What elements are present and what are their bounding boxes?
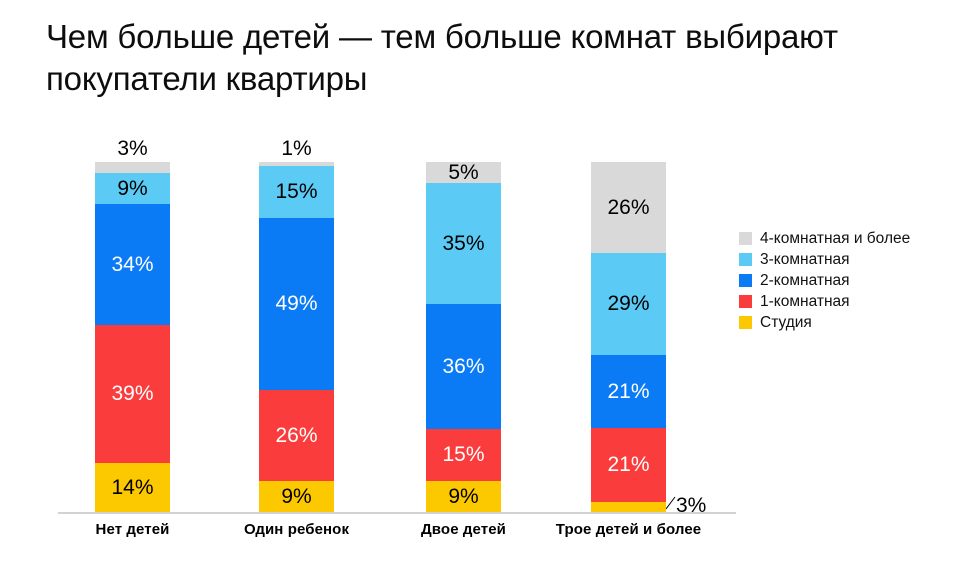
- segment-value-label: 21%: [607, 454, 649, 475]
- bar-segment[interactable]: 3%: [95, 162, 170, 173]
- segment-value-label: 26%: [275, 425, 317, 446]
- bar-segment[interactable]: 21%: [591, 355, 666, 429]
- legend-item[interactable]: Студия: [739, 312, 910, 333]
- segment-value-label: 15%: [442, 444, 484, 465]
- legend-swatch-icon: [739, 316, 752, 329]
- segment-value-label: 9%: [117, 178, 147, 199]
- segment-value-label: 15%: [275, 181, 317, 202]
- bar-segment[interactable]: 9%: [95, 173, 170, 205]
- legend-item[interactable]: 3-комнатная: [739, 249, 910, 270]
- legend-swatch-icon: [739, 274, 752, 287]
- legend-label: 1-комнатная: [760, 294, 850, 310]
- segment-value-label: 21%: [607, 381, 649, 402]
- segment-value-label: 9%: [281, 486, 311, 507]
- bar-segment[interactable]: 15%: [426, 429, 501, 481]
- segment-value-label: 29%: [607, 293, 649, 314]
- segment-value-label: 14%: [111, 477, 153, 498]
- bar-segment[interactable]: 29%: [591, 253, 666, 355]
- x-axis-line: [58, 512, 736, 514]
- legend-item[interactable]: 4-комнатная и более: [739, 228, 910, 249]
- bar-segment[interactable]: 3%: [591, 502, 666, 513]
- segment-value-label: 1%: [281, 138, 311, 159]
- bar-segment[interactable]: 39%: [95, 325, 170, 463]
- bar-segment[interactable]: 9%: [259, 481, 334, 513]
- bar-segment[interactable]: 34%: [95, 204, 170, 324]
- bar-column[interactable]: 3%9%34%39%14%: [95, 162, 170, 512]
- legend-item[interactable]: 1-комнатная: [739, 291, 910, 312]
- chart-legend: 4-комнатная и более3-комнатная2-комнатна…: [739, 228, 910, 333]
- bar-segment[interactable]: 14%: [95, 463, 170, 513]
- segment-value-label: 9%: [448, 486, 478, 507]
- legend-swatch-icon: [739, 253, 752, 266]
- bar-segment[interactable]: 36%: [426, 304, 501, 429]
- legend-label: 2-комнатная: [760, 273, 850, 289]
- bar-segment[interactable]: 5%: [426, 162, 501, 183]
- bar-segment[interactable]: 15%: [259, 166, 334, 219]
- segment-value-label: 34%: [111, 254, 153, 275]
- bar-column[interactable]: 26%29%21%21%3%: [591, 162, 666, 512]
- segment-value-label: 49%: [275, 293, 317, 314]
- bar-segment[interactable]: 49%: [259, 218, 334, 390]
- legend-label: 4-комнатная и более: [760, 231, 910, 247]
- category-label: Трое детей и более: [529, 521, 729, 538]
- bar-segment[interactable]: 21%: [591, 428, 666, 502]
- segment-value-label: 35%: [442, 233, 484, 254]
- bar-segment[interactable]: 35%: [426, 183, 501, 304]
- segment-value-label: 39%: [111, 383, 153, 404]
- segment-value-label: 3%: [117, 138, 147, 159]
- bar-segment[interactable]: 9%: [426, 481, 501, 512]
- legend-item[interactable]: 2-комнатная: [739, 270, 910, 291]
- legend-label: 3-комнатная: [760, 252, 850, 268]
- bar-column[interactable]: 5%35%36%15%9%: [426, 162, 501, 512]
- legend-swatch-icon: [739, 232, 752, 245]
- legend-label: Студия: [760, 315, 812, 331]
- segment-value-label: 5%: [448, 162, 478, 183]
- segment-value-label: 26%: [607, 197, 649, 218]
- bar-segment[interactable]: 26%: [591, 162, 666, 253]
- legend-swatch-icon: [739, 295, 752, 308]
- segment-value-label: 36%: [442, 356, 484, 377]
- bar-segment[interactable]: 26%: [259, 390, 334, 481]
- bar-column[interactable]: 1%15%49%26%9%: [259, 162, 334, 512]
